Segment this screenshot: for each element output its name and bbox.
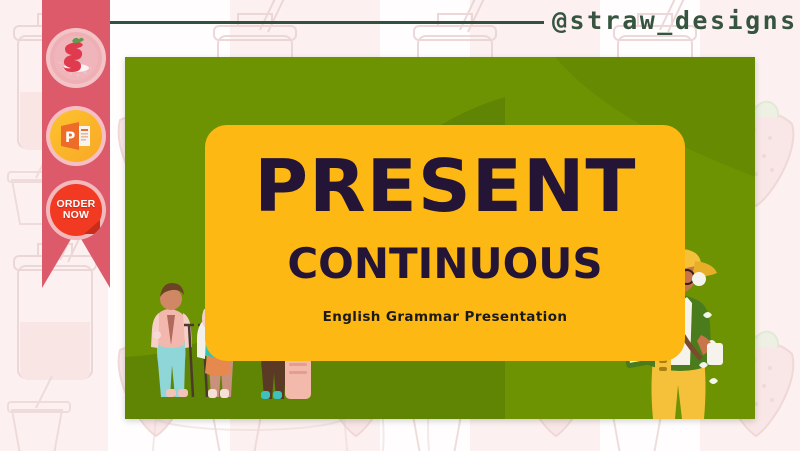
watermark-handle: @straw_designs	[552, 6, 798, 35]
slide-subtitle: English Grammar Presentation	[323, 309, 568, 325]
slide-title-line1: PRESENT	[254, 147, 636, 225]
order-now-button[interactable]: ORDER NOW	[46, 180, 106, 240]
slide-title-line2: Continuous	[287, 225, 602, 291]
order-now-label: ORDER NOW	[57, 199, 96, 221]
presentation-slide[interactable]: PRESENT Continuous English Grammar Prese…	[125, 57, 755, 419]
brand-logo-badge[interactable]: S T R A W S	[46, 28, 106, 88]
screenshot-canvas: @straw_designs S T R A W S	[0, 0, 800, 451]
header-divider-line	[92, 21, 544, 24]
powerpoint-icon: P	[50, 110, 102, 162]
title-card: PRESENT Continuous English Grammar Prese…	[205, 125, 685, 361]
svg-text:P: P	[65, 130, 75, 146]
order-now-badge-icon: ORDER NOW	[50, 184, 102, 236]
powerpoint-badge[interactable]: P	[46, 106, 106, 166]
strawberry-s-logo-icon: S T R A W S	[50, 32, 102, 84]
